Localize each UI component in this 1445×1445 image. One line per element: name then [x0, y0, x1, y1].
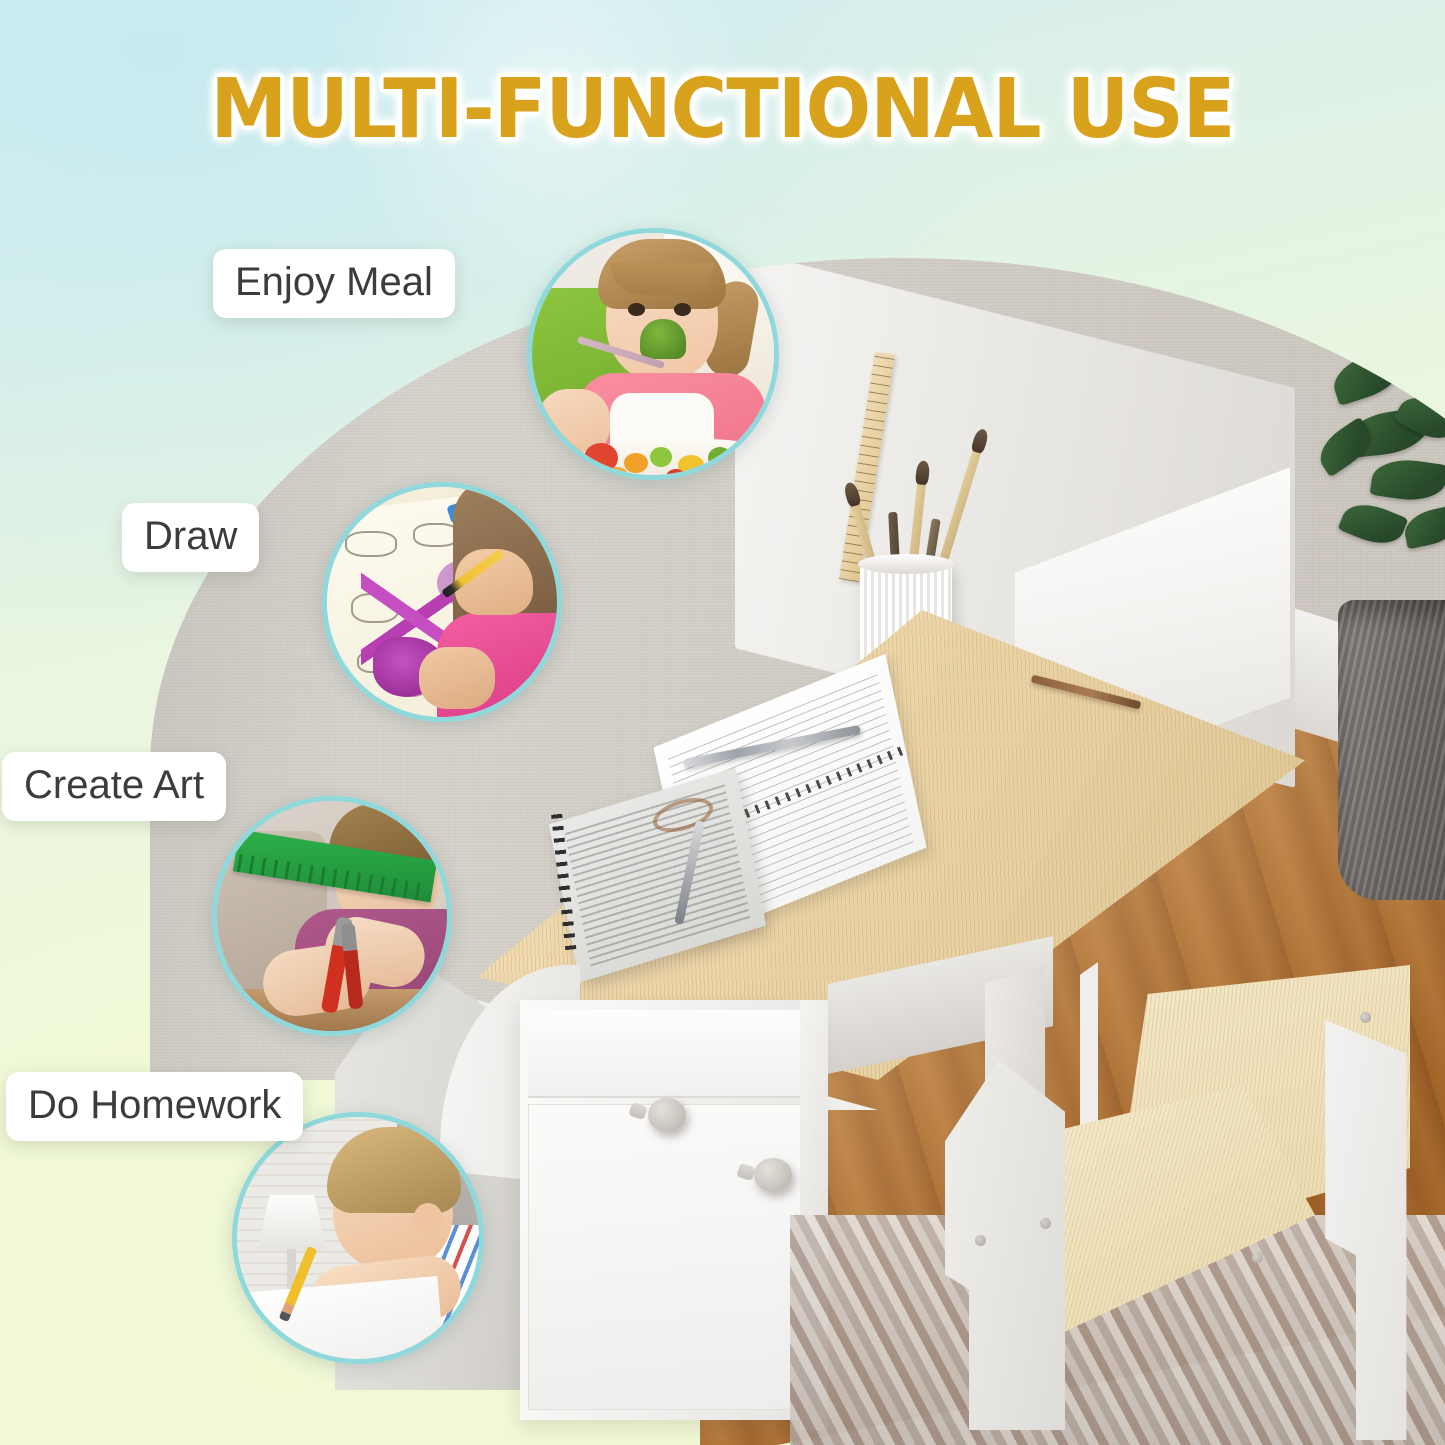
chair-screw: [1040, 1218, 1051, 1229]
infographic-canvas: MULTI-FUNCTIONAL USE Enjoy Meal: [0, 0, 1445, 1445]
photo-child-painting: [327, 487, 557, 717]
chair-screw: [1360, 1012, 1371, 1023]
feature-label-enjoy-meal: Enjoy Meal: [213, 249, 455, 318]
feature-label-create-art: Create Art: [2, 752, 226, 821]
cabinet-door[interactable]: [528, 1104, 812, 1410]
planter-pot: [1338, 600, 1445, 900]
chair-screw: [975, 1235, 986, 1246]
photo-girl-eating-broccoli: [532, 233, 774, 475]
feature-photo-do-homework: [232, 1112, 484, 1364]
door-knob[interactable]: [754, 1158, 792, 1192]
feature-photo-create-art: [212, 796, 452, 1036]
chair-screw: [1252, 1252, 1263, 1263]
photo-boy-writing: [237, 1117, 479, 1359]
feature-photo-draw: [322, 482, 562, 722]
feature-photo-enjoy-meal: [527, 228, 779, 480]
photo-child-cutting-paper: [217, 801, 447, 1031]
pen-cup-rim: [858, 554, 954, 574]
cabinet-drawer[interactable]: [528, 1010, 812, 1098]
page-title: MULTI-FUNCTIONAL USE: [43, 62, 1401, 157]
feature-label-draw: Draw: [122, 503, 259, 572]
drawer-knob[interactable]: [648, 1098, 686, 1132]
feature-label-do-homework: Do Homework: [6, 1072, 303, 1141]
